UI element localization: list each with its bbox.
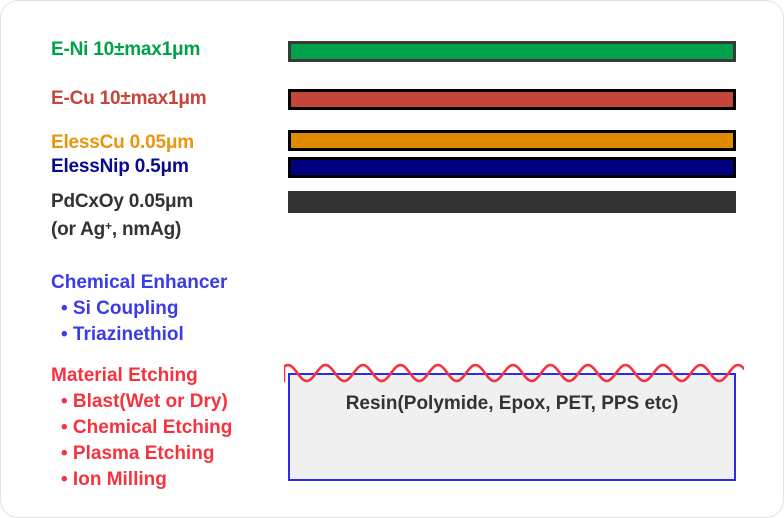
layer-label-pdcxoy-superscript-plus: +: [105, 219, 112, 233]
layer-bar-elesscu: [288, 130, 736, 151]
layer-label-pdcxoy-line2-pre: (or Ag: [51, 219, 105, 240]
material-etching-item-chemical-etching: • Chemical Etching: [51, 415, 232, 441]
layer-bar-e-ni: [288, 41, 736, 62]
layer-bar-pdcxoy: [288, 191, 736, 213]
resin-substrate-label: Resin(Polymide, Epox, PET, PPS etc): [288, 393, 736, 415]
layer-label-pdcxoy-line1: PdCxOy 0.05μm: [51, 189, 193, 214]
material-etching-item-ion-milling: • Ion Milling: [51, 467, 232, 493]
material-etching-group: Material Etching • Blast(Wet or Dry) • C…: [51, 363, 232, 493]
layer-label-e-ni: E-Ni 10±max1μm: [51, 39, 200, 61]
material-etching-item-blast: • Blast(Wet or Dry): [51, 389, 232, 415]
layer-label-elesscu: ElessCu 0.05μm: [51, 132, 194, 154]
chemical-enhancer-item-si-coupling: • Si Coupling: [51, 296, 227, 322]
layer-label-pdcxoy: PdCxOy 0.05μm (or Ag+, nmAg): [51, 189, 193, 242]
chemical-enhancer-group: Chemical Enhancer • Si Coupling • Triazi…: [51, 270, 227, 348]
chemical-enhancer-item-triazinethiol: • Triazinethiol: [51, 322, 227, 348]
layer-label-e-cu: E-Cu 10±max1μm: [51, 88, 206, 110]
chemical-enhancer-heading: Chemical Enhancer: [51, 270, 227, 296]
resin-substrate-box: [288, 373, 736, 481]
material-etching-heading: Material Etching: [51, 363, 232, 389]
layer-label-elessnip: ElessNip 0.5μm: [51, 156, 189, 178]
layer-label-pdcxoy-line2-post: , nmAg): [112, 219, 181, 240]
material-etching-item-plasma-etching: • Plasma Etching: [51, 441, 232, 467]
stackup-diagram-card: E-Ni 10±max1μm E-Cu 10±max1μm ElessCu 0.…: [0, 0, 784, 518]
layer-bar-e-cu: [288, 89, 736, 110]
layer-bar-elessnip: [288, 157, 736, 178]
layer-label-pdcxoy-line2: (or Ag+, nmAg): [51, 214, 193, 242]
